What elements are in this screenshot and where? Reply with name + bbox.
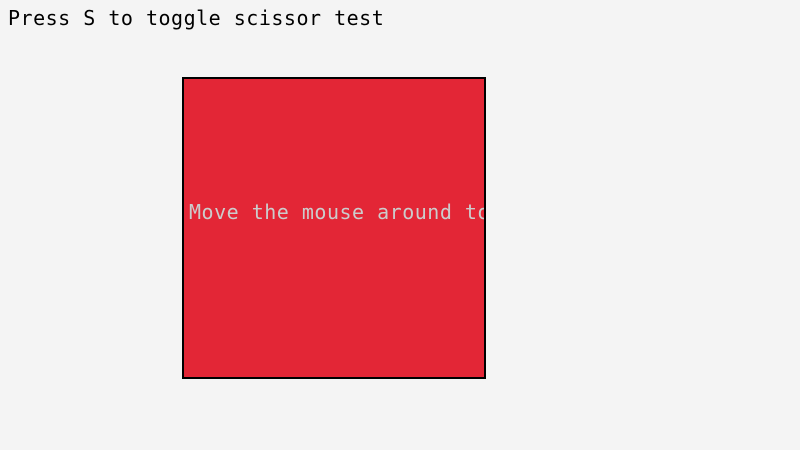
app-canvas: Press S to toggle scissor test Move the … [0,0,800,450]
scissor-region[interactable]: Move the mouse around to resize the scis… [182,77,486,379]
clipped-message-text: Move the mouse around to resize the scis… [189,201,484,223]
scissor-clip-area: Move the mouse around to resize the scis… [184,79,484,377]
hint-text: Press S to toggle scissor test [8,7,384,29]
